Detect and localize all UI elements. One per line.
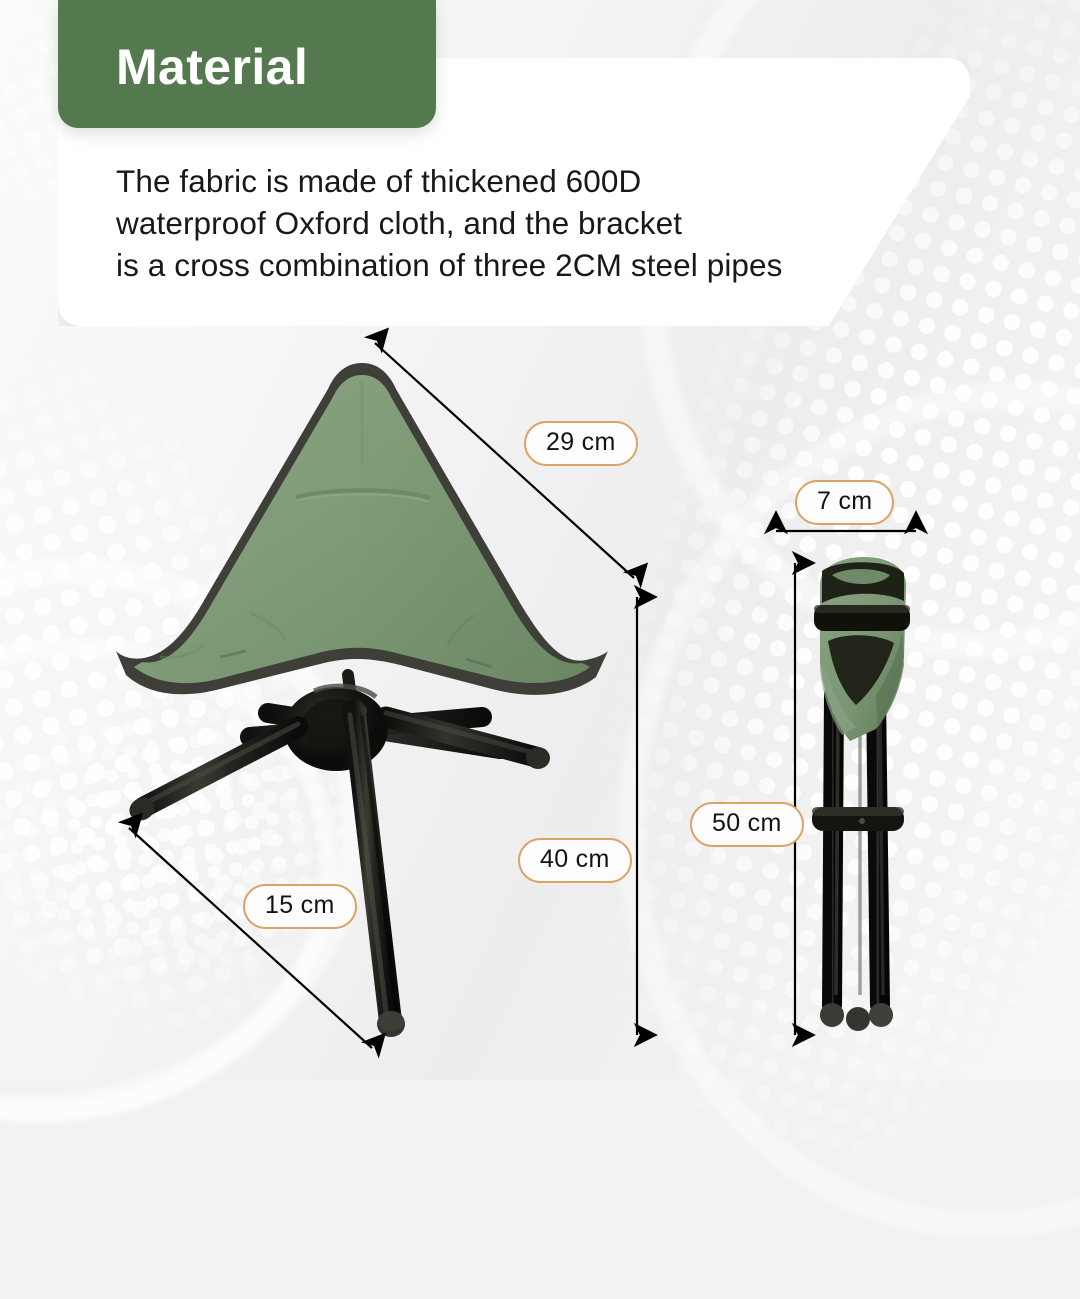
dimension-label-15cm: 15 cm — [243, 884, 357, 929]
dimension-label-50cm: 50 cm — [690, 802, 804, 847]
dimension-label-7cm: 7 cm — [795, 480, 894, 525]
material-badge-label: Material — [116, 38, 308, 96]
dimension-label-40cm: 40 cm — [518, 838, 632, 883]
dimension-label-29cm: 29 cm — [524, 421, 638, 466]
material-badge: Material — [58, 0, 436, 128]
description-text: The fabric is made of thickened 600D wat… — [116, 160, 916, 286]
dimension-line-15cm — [129, 828, 372, 1048]
